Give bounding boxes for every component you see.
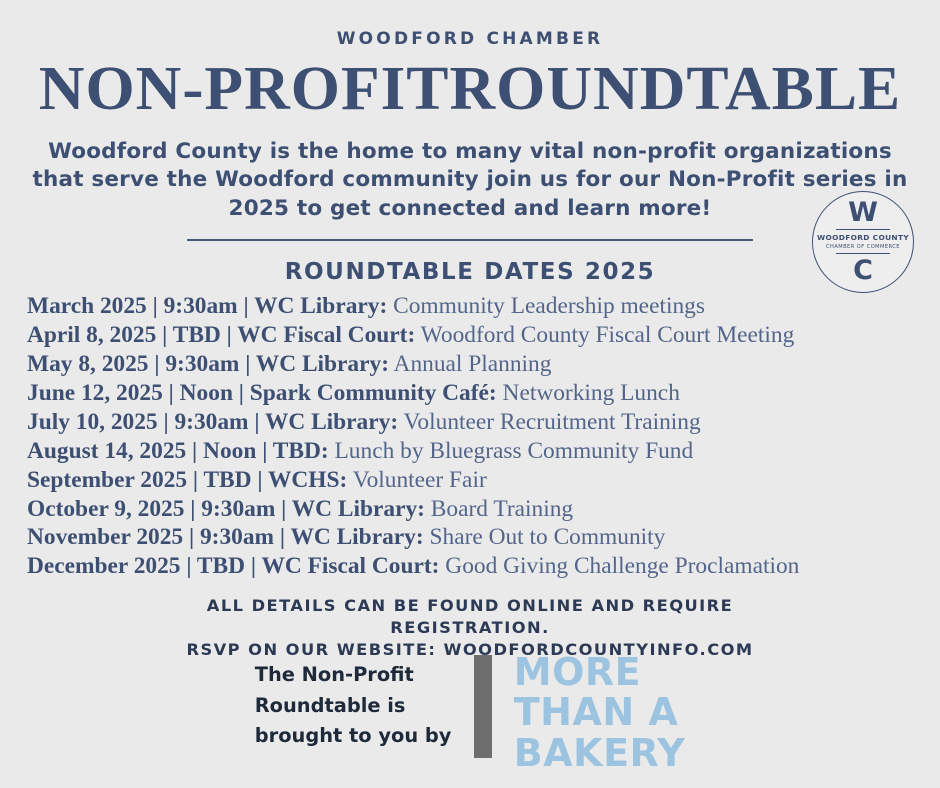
logo-org-subname: CHAMBER OF COMMERCE bbox=[826, 244, 900, 250]
sponsor-intro-line-1: The Non-Profit bbox=[255, 660, 460, 691]
date-row: November 2025 | 9:30am | WC Library: Sha… bbox=[27, 523, 940, 552]
header-divider bbox=[187, 239, 753, 241]
date-row-lead: September 2025 | TBD | WCHS: bbox=[27, 467, 347, 493]
logo-letter-c: C bbox=[853, 258, 873, 284]
date-row-lead: July 10, 2025 | 9:30am | WC Library: bbox=[27, 409, 398, 435]
date-row-description: Good Giving Challenge Proclamation bbox=[439, 553, 799, 579]
sponsor-inner: The Non-Profit Roundtable is brought to … bbox=[255, 648, 685, 773]
date-row-lead: December 2025 | TBD | WC Fiscal Court: bbox=[27, 553, 439, 579]
date-row-lead: October 9, 2025 | 9:30am | WC Library: bbox=[27, 496, 425, 522]
date-row: December 2025 | TBD | WC Fiscal Court: G… bbox=[27, 552, 940, 581]
sponsor-brand-line-3: BAKERY bbox=[514, 733, 685, 773]
date-row-description: Share Out to Community bbox=[424, 524, 666, 550]
logo-rule-bottom bbox=[836, 253, 890, 254]
date-row: September 2025 | TBD | WCHS: Volunteer F… bbox=[27, 466, 940, 495]
sponsor-block: The Non-Profit Roundtable is brought to … bbox=[0, 648, 940, 788]
logo-rule-top bbox=[836, 229, 890, 230]
sponsor-intro-text: The Non-Profit Roundtable is brought to … bbox=[255, 648, 460, 773]
kicker-text: WOODFORD CHAMBER bbox=[0, 0, 940, 48]
logo-letter-w: W bbox=[848, 200, 878, 226]
date-row-description: Community Leadership meetings bbox=[387, 293, 705, 319]
date-row-lead: March 2025 | 9:30am | WC Library: bbox=[27, 293, 387, 319]
chamber-logo: W WOODFORD COUNTY CHAMBER OF COMMERCE C bbox=[812, 191, 914, 293]
date-row: May 8, 2025 | 9:30am | WC Library: Annua… bbox=[27, 350, 940, 379]
date-row: August 14, 2025 | Noon | TBD: Lunch by B… bbox=[27, 437, 940, 466]
page-title: NON-PROFITROUNDTABLE bbox=[0, 57, 940, 122]
subtitle-text: Woodford County is the home to many vita… bbox=[30, 138, 910, 223]
date-row-description: Annual Planning bbox=[389, 351, 551, 377]
date-row-lead: April 8, 2025 | TBD | WC Fiscal Court: bbox=[27, 322, 415, 348]
sponsor-brand-logo: MORE THAN A BAKERY bbox=[514, 648, 685, 773]
date-row-description: Networking Lunch bbox=[497, 380, 680, 406]
sponsor-divider-bar bbox=[474, 655, 492, 758]
sponsor-brand-line-2: THAN A bbox=[514, 692, 685, 732]
poster-canvas: WOODFORD CHAMBER NON-PROFITROUNDTABLE Wo… bbox=[0, 0, 940, 788]
sponsor-intro-line-2: Roundtable is bbox=[255, 691, 460, 722]
sponsor-intro-line-3: brought to you by bbox=[255, 721, 460, 752]
date-row: October 9, 2025 | 9:30am | WC Library: B… bbox=[27, 495, 940, 524]
dates-heading: ROUNDTABLE DATES 2025 bbox=[0, 259, 940, 285]
date-row-description: Lunch by Bluegrass Community Fund bbox=[329, 438, 694, 464]
registration-line-1: ALL DETAILS CAN BE FOUND ONLINE AND REQU… bbox=[0, 595, 940, 617]
date-row-lead: August 14, 2025 | Noon | TBD: bbox=[27, 438, 329, 464]
date-row: July 10, 2025 | 9:30am | WC Library: Vol… bbox=[27, 408, 940, 437]
date-row: April 8, 2025 | TBD | WC Fiscal Court: W… bbox=[27, 321, 940, 350]
sponsor-brand-line-1: MORE bbox=[514, 652, 685, 692]
date-row: March 2025 | 9:30am | WC Library: Commun… bbox=[27, 292, 940, 321]
date-row-description: Volunteer Fair bbox=[347, 467, 486, 493]
date-row: June 12, 2025 | Noon | Spark Community C… bbox=[27, 379, 940, 408]
roundtable-dates-list: March 2025 | 9:30am | WC Library: Commun… bbox=[0, 292, 940, 581]
date-row-description: Woodford County Fiscal Court Meeting bbox=[415, 322, 794, 348]
date-row-description: Volunteer Recruitment Training bbox=[398, 409, 701, 435]
logo-org-name: WOODFORD COUNTY bbox=[817, 233, 909, 242]
date-row-lead: May 8, 2025 | 9:30am | WC Library: bbox=[27, 351, 389, 377]
date-row-lead: November 2025 | 9:30am | WC Library: bbox=[27, 524, 424, 550]
date-row-description: Board Training bbox=[425, 496, 573, 522]
registration-line-2: REGISTRATION. bbox=[0, 617, 940, 639]
date-row-lead: June 12, 2025 | Noon | Spark Community C… bbox=[27, 380, 497, 406]
